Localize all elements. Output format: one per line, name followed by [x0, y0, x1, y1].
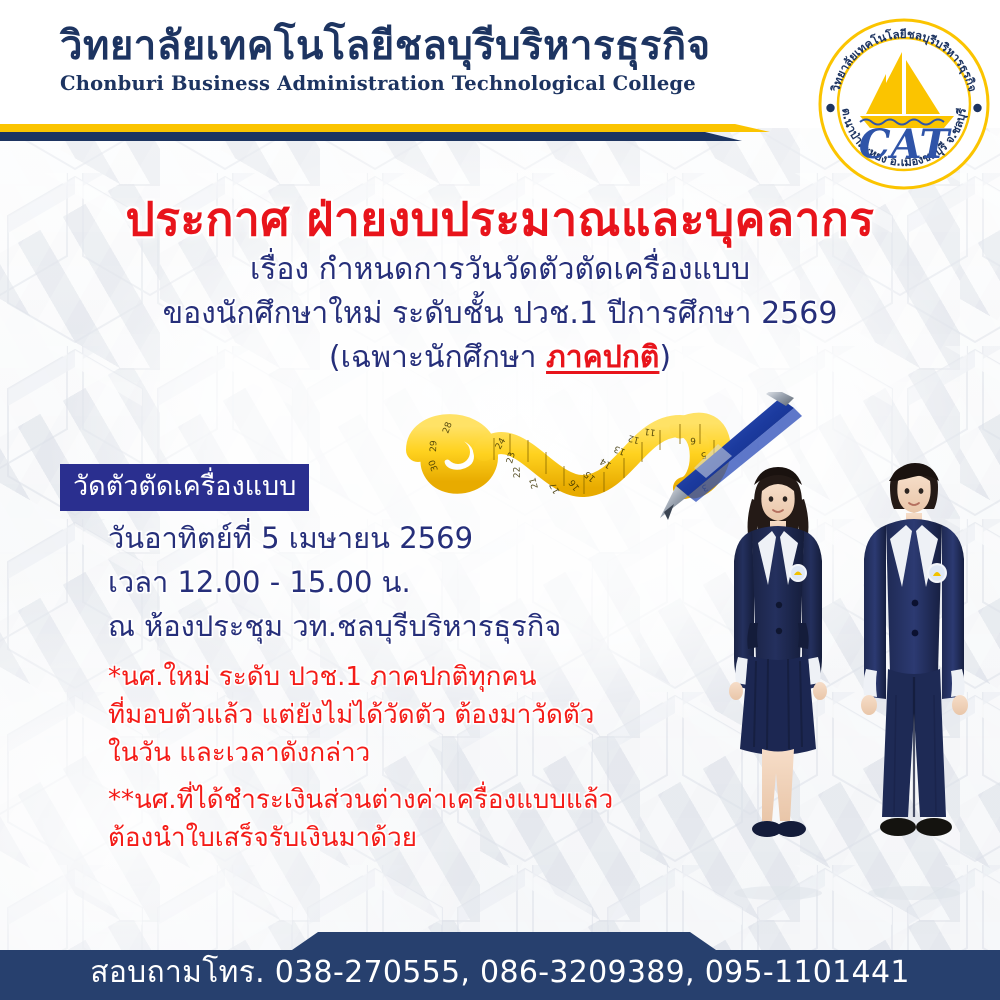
detail-lines: วันอาทิตย์ที่ 5 เมษายน 2569 เวลา 12.00 -…: [108, 516, 668, 648]
announcement-subject: เรื่อง กำหนดการวันวัดตัวตัดเครื่องแบบ: [0, 248, 1000, 292]
college-name-english: Chonburi Business Administration Technol…: [60, 72, 720, 96]
svg-text:29: 29: [429, 440, 439, 452]
note2-line1: **นศ.ที่ได้ชำระเงินส่วนต่างค่าเครื่องแบบ…: [108, 781, 688, 819]
svg-text:21: 21: [528, 476, 541, 490]
svg-text:11: 11: [644, 425, 657, 436]
announcement-scope: (เฉพาะนักศึกษา ภาคปกติ): [0, 336, 1000, 380]
svg-text:6: 6: [690, 435, 696, 445]
scope-highlight: ภาคปกติ: [546, 340, 659, 375]
male-student-figure: [861, 463, 968, 900]
announcement-headline: ประกาศ ฝ่ายงบประมาณและบุคลากร: [0, 190, 1000, 248]
detail-location: ณ ห้องประชุม วท.ชลบุรีบริหารธุรกิจ: [108, 604, 668, 648]
seal-initials: CAT: [859, 121, 953, 168]
detail-time: เวลา 12.00 - 15.00 น.: [108, 560, 668, 604]
divider-yellow-bar: [0, 124, 770, 132]
college-name-block: วิทยาลัยเทคโนโลยีชลบุรีบริหารธุรกิจ Chon…: [60, 22, 720, 96]
footer-contact: สอบถามโทร. 038-270555, 086-3209389, 095-…: [0, 932, 1000, 1000]
svg-text:13: 13: [613, 443, 627, 457]
divider-navy-bar: [0, 132, 742, 141]
female-student-figure: [729, 467, 827, 900]
notes-block: *นศ.ใหม่ ระดับ ปวช.1 ภาคปกติทุกคน ที่มอบ…: [108, 658, 688, 857]
announcement-target: ของนักศึกษาใหม่ ระดับชั้น ปวช.1 ปีการศึก…: [0, 292, 1000, 336]
note1-line2: ที่มอบตัวแล้ว แต่ยังไม่ได้วัดตัว ต้องมาว…: [108, 696, 688, 734]
svg-text:22: 22: [513, 466, 523, 478]
scope-prefix: (เฉพาะนักศึกษา: [329, 340, 546, 375]
detail-badge: วัดตัวตัดเครื่องแบบ: [60, 464, 309, 511]
students-in-uniform-photo: [690, 455, 1000, 915]
tape-ribbon: 28 29 30 24 23 22 21 17 16 15 14 13 12 1…: [418, 421, 720, 496]
poster-root: วิทยาลัยเทคโนโลยีชลบุรีบริหารธุรกิจ Chon…: [0, 0, 1000, 1000]
scope-suffix: ): [659, 340, 671, 375]
note2-line2: ต้องนำใบเสร็จรับเงินมาด้วย: [108, 819, 688, 857]
notes-spacer: [108, 772, 688, 781]
college-seal-logo: วิทยาลัยเทคโนโลยีชลบุรีบริหารธุรกิจ ต.นา…: [816, 16, 992, 192]
announcement-block: ประกาศ ฝ่ายงบประมาณและบุคลากร เรื่อง กำห…: [0, 190, 1000, 380]
detail-date: วันอาทิตย์ที่ 5 เมษายน 2569: [108, 516, 668, 560]
note1-line1: *นศ.ใหม่ ระดับ ปวช.1 ภาคปกติทุกคน: [108, 658, 688, 696]
note1-line3: ในวัน และเวลาดังกล่าว: [108, 734, 688, 772]
college-name-thai: วิทยาลัยเทคโนโลยีชลบุรีบริหารธุรกิจ: [60, 22, 720, 70]
footer-bar: สอบถามโทร. 038-270555, 086-3209389, 095-…: [0, 932, 1000, 1000]
